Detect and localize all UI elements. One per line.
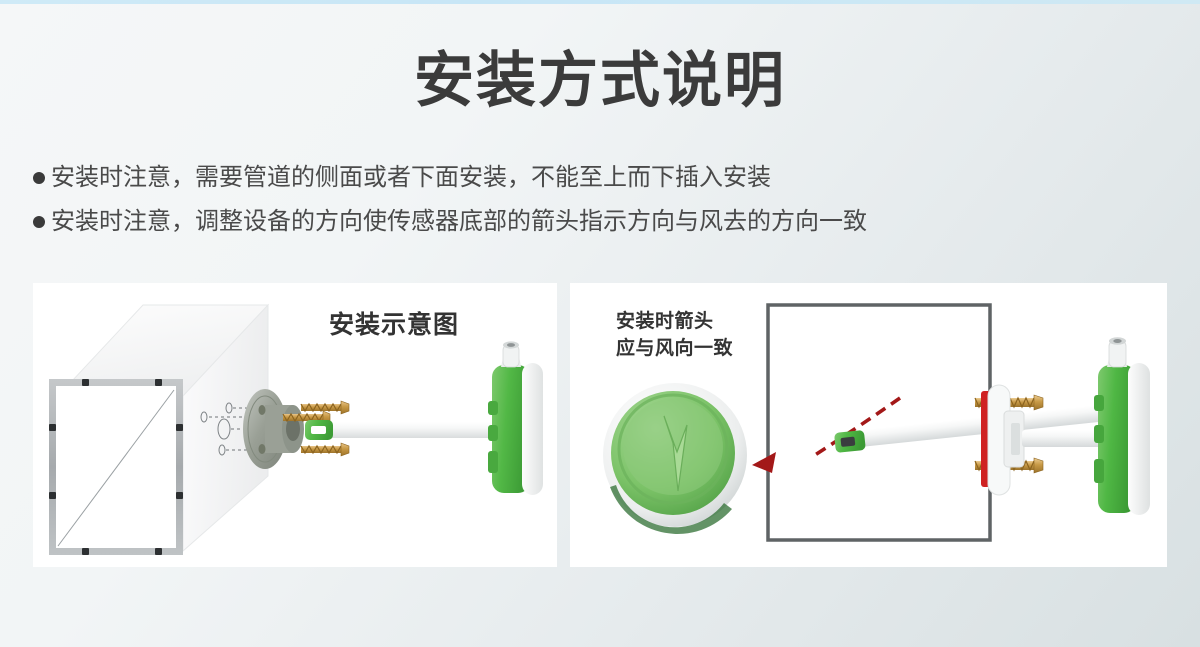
bullet-text: 安装时注意，需要管道的侧面或者下面安装，不能至上而下插入安装 [51, 156, 771, 200]
cap-closeup [603, 383, 747, 534]
bullet-dot-icon [33, 216, 45, 228]
duct-box [49, 305, 268, 555]
panel-arrow-direction: 安装时箭头 应与风向一致 [570, 283, 1167, 567]
panel-right-caption: 安装时箭头 应与风向一致 [616, 308, 733, 362]
page-title: 安装方式说明 [0, 44, 1200, 118]
installation-diagram-svg [33, 283, 557, 567]
bullet-text: 安装时注意，调整设备的方向使传感器底部的箭头指示方向与风去的方向一致 [51, 200, 867, 244]
sensor-body [488, 341, 543, 495]
illustration-panels: 安装示意图 [33, 283, 1167, 567]
bullet-dot-icon [33, 172, 45, 184]
list-item: 安装时注意，调整设备的方向使传感器底部的箭头指示方向与风去的方向一致 [33, 200, 1173, 244]
probe-tube-outer [1022, 430, 1104, 447]
list-item: 安装时注意，需要管道的侧面或者下面安装，不能至上而下插入安装 [33, 156, 1173, 200]
flange-part [243, 389, 304, 469]
panel-installation-diagram: 安装示意图 [33, 283, 557, 567]
sensor-body [1094, 337, 1150, 515]
panel-left-caption: 安装示意图 [329, 305, 459, 341]
top-accent-strip [0, 0, 1200, 4]
probe-assembly [305, 420, 502, 440]
bullet-list: 安装时注意，需要管道的侧面或者下面安装，不能至上而下插入安装 安装时注意，调整设… [33, 156, 1173, 244]
